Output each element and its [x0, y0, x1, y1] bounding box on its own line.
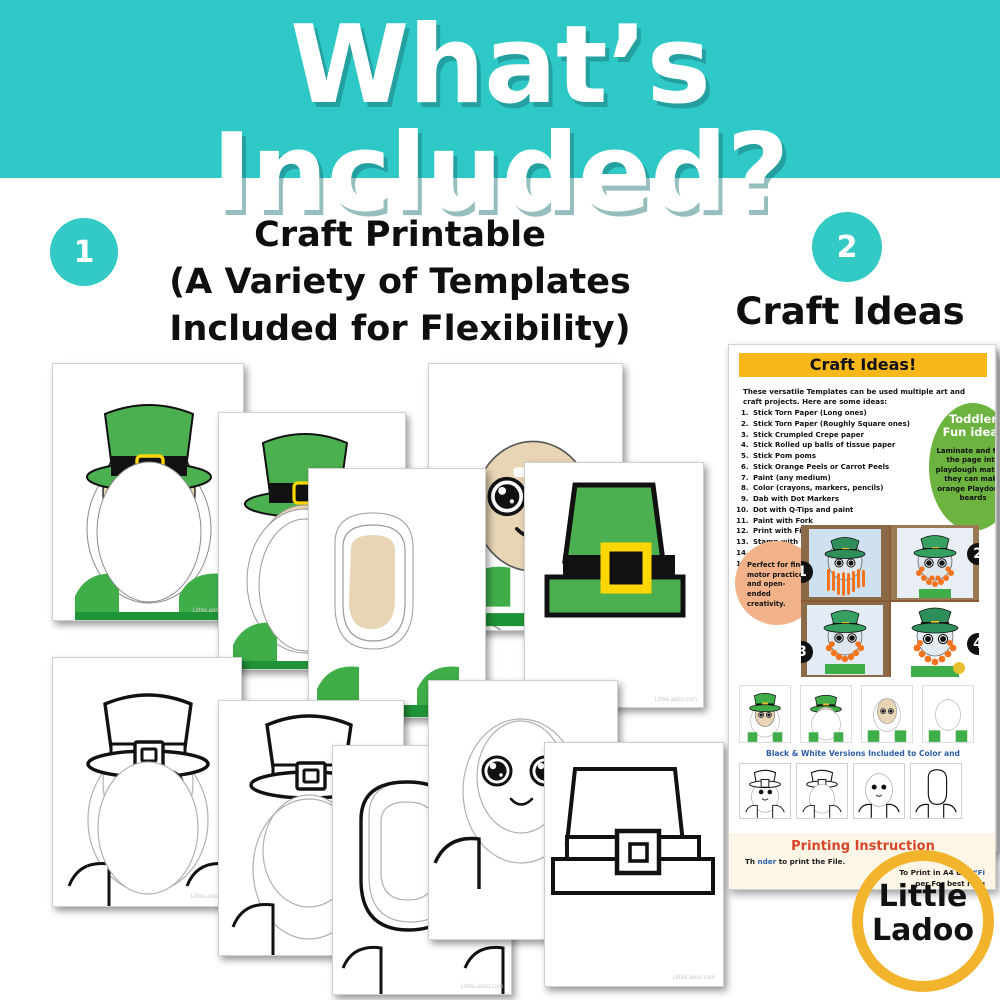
section-title-2: Craft Ideas: [700, 290, 1000, 333]
brand-logo: Little Ladoo: [852, 850, 994, 992]
watermark: LittleLadoo.com: [673, 975, 715, 981]
logo-text: Little Ladoo: [852, 880, 994, 947]
craft-ideas-intro: These versatile Templates can be used mu…: [743, 387, 981, 407]
section-title-1-line1: Craft Printable: [130, 212, 670, 259]
section-title-1-line3: Included for Flexibility): [130, 306, 670, 353]
craft-photo-4: 4: [891, 602, 979, 677]
header-banner: What’s Included?: [0, 0, 1000, 178]
bw-hat-art: LittleLadoo.com: [545, 743, 724, 987]
perfect-for-badge-body: Perfect for fine motor practice, and ope…: [747, 561, 809, 609]
color-thumbnail: [800, 685, 852, 743]
toddler-badge-title-line2: Fun idea!: [929, 426, 996, 439]
bw-versions-caption: Black & White Versions Included to Color…: [729, 749, 996, 758]
bw-leprechaun-full-art: LittleLadoo.com: [53, 658, 242, 907]
craft-photo-grid: 1 2: [801, 525, 979, 677]
color-thumbnail: [922, 685, 974, 743]
toddler-badge-title-line1: Toddler: [929, 413, 996, 426]
color-template-thumbnails: [739, 685, 989, 743]
template-card-color-leprechaun-full: LittleLadoo.com: [52, 363, 244, 621]
bw-thumbnail: [853, 763, 905, 819]
watermark: LittleLadoo.com: [461, 984, 503, 990]
craft-ideas-document: Craft Ideas! These versatile Templates c…: [728, 344, 996, 890]
section-badge-1-label: 1: [74, 235, 95, 270]
template-card-color-hat-only: LittleLadoo.com: [524, 462, 704, 708]
section-badge-2: 2: [812, 212, 882, 282]
template-card-bw-hat-only: LittleLadoo.com: [544, 742, 724, 987]
toddler-badge-title: Toddler Fun idea!: [929, 413, 996, 439]
bw-thumbnail: [796, 763, 848, 819]
watermark: LittleLadoo.com: [655, 697, 697, 703]
logo-line-2: Ladoo: [852, 914, 994, 948]
page-root: What’s Included? 1 Craft Printable (A Va…: [0, 0, 1000, 1000]
template-card-bw-leprechaun-full: LittleLadoo.com: [52, 657, 242, 907]
color-thumbnail: [861, 685, 913, 743]
color-thumbnail: [739, 685, 791, 743]
craft-photo-3: 3: [801, 602, 889, 677]
craft-photo-2: 2: [891, 525, 979, 600]
bw-thumbnail: [910, 763, 962, 819]
craft-ideas-band-title: Craft Ideas!: [739, 355, 987, 374]
color-leprechaun-full-art: LittleLadoo.com: [53, 364, 244, 621]
section-badge-1: 1: [50, 218, 118, 286]
bw-template-thumbnails: [739, 763, 989, 819]
color-hat-art: LittleLadoo.com: [525, 463, 704, 708]
logo-line-1: Little: [852, 880, 994, 914]
page-title: What’s Included?: [0, 12, 1000, 228]
bw-thumbnail: [739, 763, 791, 819]
toddler-badge-body: Laminate and turn the page into playdoug…: [935, 447, 996, 503]
craft-photo-1: 1: [801, 525, 889, 600]
section-title-1: Craft Printable (A Variety of Templates …: [130, 212, 670, 353]
section-badge-2-label: 2: [837, 230, 858, 265]
section-title-1-line2: (A Variety of Templates: [130, 259, 670, 306]
